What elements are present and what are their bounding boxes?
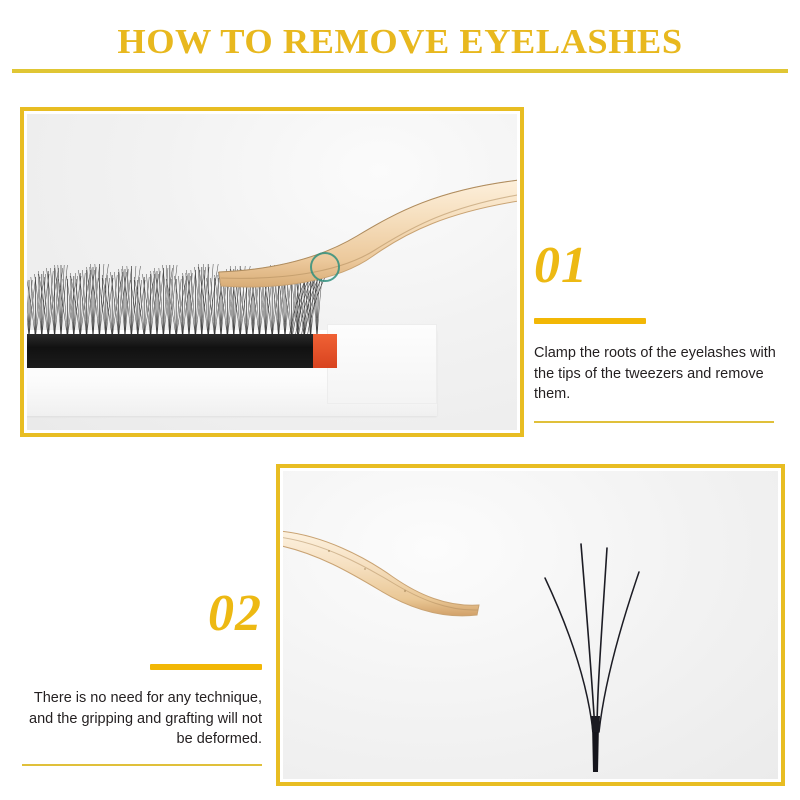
- step-1-caption: Clamp the roots of the eyelashes with th…: [534, 343, 786, 405]
- title-divider-rule: [12, 69, 788, 73]
- step-2-bottom-rule: [22, 764, 262, 766]
- step-2-number: 02: [14, 588, 262, 640]
- step-1-bottom-rule: [534, 421, 774, 423]
- step-2-divider-bar: [150, 664, 262, 670]
- gold-tweezers: [207, 174, 517, 334]
- step-2-photo-frame: [276, 464, 785, 786]
- step-1-photo-frame: [20, 107, 524, 437]
- step-2-photo: [283, 471, 778, 779]
- step-1-text-block: 01 Clamp the roots of the eyelashes with…: [534, 240, 786, 423]
- orange-end-tab: [313, 334, 337, 368]
- page-title: HOW TO REMOVE EYELASHES: [0, 22, 800, 62]
- step-2-text-block: 02 There is no need for any technique, a…: [14, 588, 262, 766]
- step-1-divider-bar: [534, 318, 646, 324]
- step-1-photo: [27, 114, 517, 430]
- step-2-caption: There is no need for any technique, and …: [14, 688, 262, 750]
- black-adhesive-strip: [27, 334, 315, 368]
- lash-fan-4d: [533, 526, 663, 776]
- teal-highlight-circle: [310, 252, 340, 282]
- step-1-number: 01: [534, 240, 786, 292]
- white-tray-card: [327, 324, 437, 404]
